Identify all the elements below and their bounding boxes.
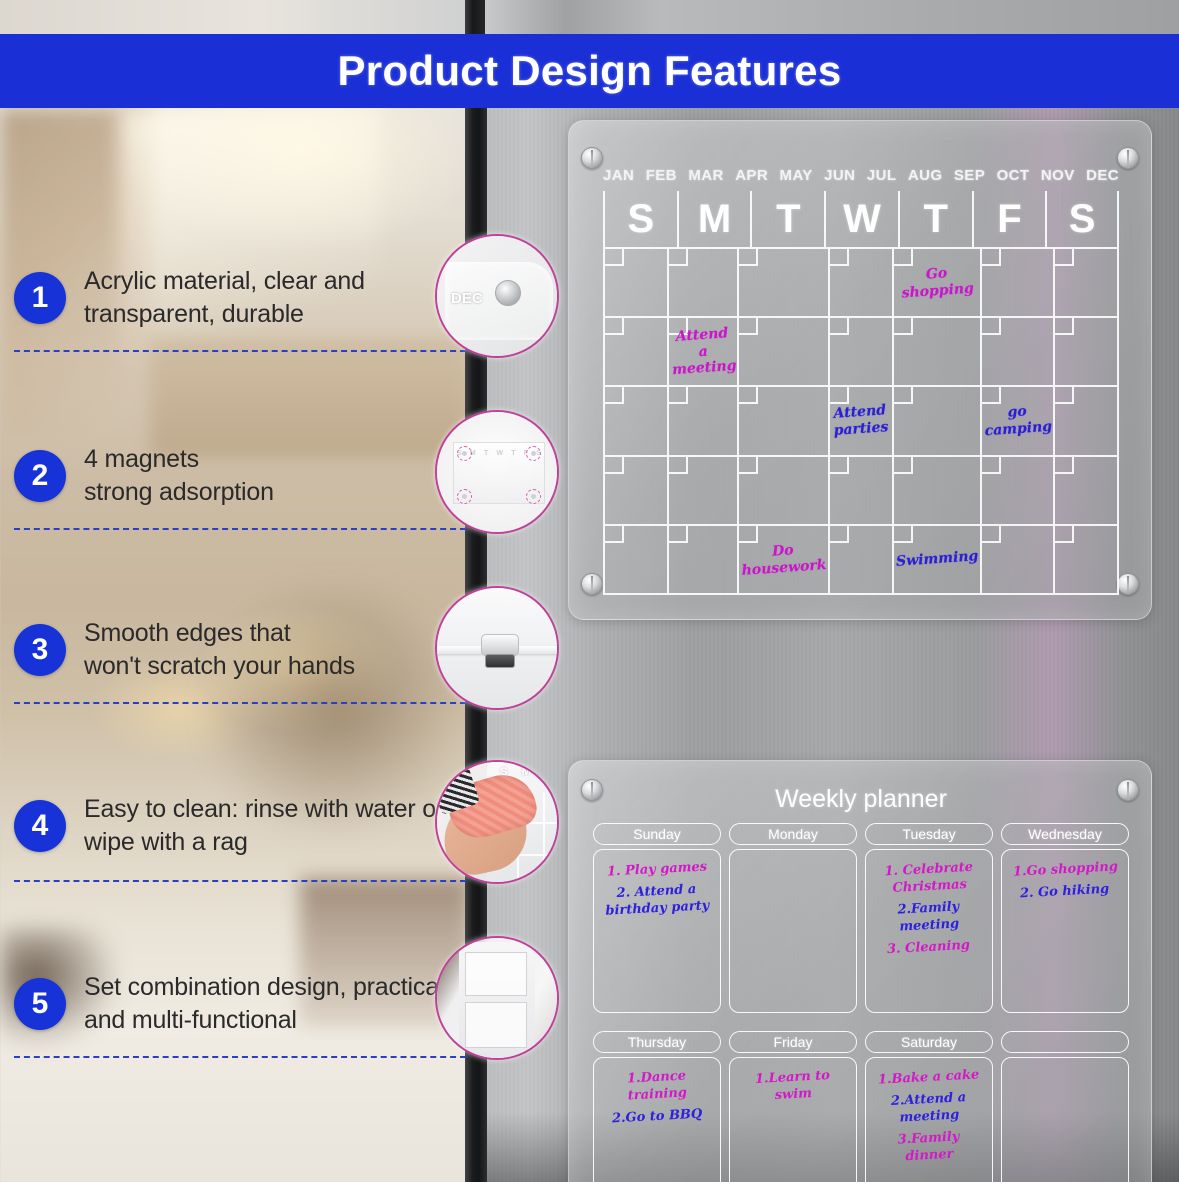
weekly-column: Thursday1.Dance training2.Go to BBQ <box>593 1031 721 1182</box>
weekly-note: 2. Go hiking <box>1020 882 1110 904</box>
calendar-cell[interactable]: Do housework <box>739 526 830 595</box>
weekday-mon: M <box>677 191 751 247</box>
magnet-icon <box>1117 573 1139 595</box>
page-title: Product Design Features <box>337 47 841 95</box>
weekly-column: Monday <box>729 823 857 1013</box>
feature-divider-3 <box>14 702 466 704</box>
calendar-cell[interactable] <box>830 318 894 387</box>
magnet-icon <box>1117 147 1139 169</box>
fridge-set-thumb <box>435 936 559 1060</box>
calendar-note: go camping <box>983 402 1053 440</box>
weekly-day-header: Monday <box>729 823 857 845</box>
feature-list: 1 Acrylic material, clear and transparen… <box>0 108 468 1182</box>
feature-badge-4: 4 <box>14 800 66 852</box>
calendar-note: Do housework <box>740 540 827 579</box>
weekly-day-body[interactable]: 1.Learn to swim <box>729 1057 857 1182</box>
weekday-fri: F <box>972 191 1046 247</box>
month-selector-row[interactable]: JAN FEB MAR APR MAY JUN JUL AUG SEP OCT … <box>603 167 1119 184</box>
weekly-day-header: Saturday <box>865 1031 993 1053</box>
month-dec[interactable]: DEC <box>1086 167 1119 184</box>
weekly-column: Wednesday1.Go shopping2. Go hiking <box>1001 823 1129 1013</box>
magnet-base <box>485 654 515 668</box>
feature-text-4: Easy to clean: rinse with water or wipe … <box>84 793 466 860</box>
calendar-cell[interactable] <box>894 457 982 526</box>
weekly-note: 1.Dance training <box>599 1067 715 1107</box>
board-corner-dec-thumb: DEC <box>435 234 559 358</box>
magnet-icon <box>481 634 519 656</box>
weekly-column: Friday1.Learn to swim <box>729 1031 857 1182</box>
magnet-icon <box>581 147 603 169</box>
thumb-dec-label: DEC <box>451 290 483 307</box>
calendar-cell[interactable] <box>739 318 830 387</box>
magnet-icon <box>581 573 603 595</box>
feature-item-1: 1 Acrylic material, clear and transparen… <box>14 248 466 348</box>
magnet-ring-icon <box>526 489 541 504</box>
four-magnets-thumb: S M T W T F S <box>435 410 559 534</box>
calendar-cell[interactable] <box>739 457 830 526</box>
calendar-cell[interactable] <box>605 387 669 456</box>
feature-badge-3: 3 <box>14 624 66 676</box>
calendar-cell[interactable] <box>669 526 739 595</box>
calendar-cell[interactable]: Go shopping <box>894 249 982 318</box>
feature-divider-1 <box>14 350 466 352</box>
calendar-cell[interactable] <box>830 457 894 526</box>
month-jul[interactable]: JUL <box>867 167 897 184</box>
calendar-cell[interactable] <box>982 318 1055 387</box>
feature-divider-4 <box>14 880 466 882</box>
mini-weekly-board <box>465 1002 527 1048</box>
weekday-tue: T <box>750 191 824 247</box>
weekly-note: 1.Go shopping <box>1012 859 1118 881</box>
feature-text-3: Smooth edges that won't scratch your han… <box>84 617 355 684</box>
weekly-note: 1. Play games <box>607 859 708 881</box>
month-oct[interactable]: OCT <box>997 167 1030 184</box>
weekly-note: 2.Family meeting <box>897 899 960 936</box>
month-aug[interactable]: AUG <box>908 167 943 184</box>
weekly-day-body[interactable] <box>729 849 857 1013</box>
feature-badge-5: 5 <box>14 978 66 1030</box>
calendar-cell[interactable] <box>605 526 669 595</box>
month-feb[interactable]: FEB <box>646 167 677 184</box>
weekly-note: 2.Go to BBQ <box>611 1106 702 1128</box>
weekly-day-header: Friday <box>729 1031 857 1053</box>
weekly-planner-title: Weekly planner <box>569 785 1153 814</box>
magnet-ring-icon <box>457 446 472 461</box>
weekday-header-row: S M T W T F S <box>603 191 1119 247</box>
feature-item-3: 3 Smooth edges that won't scratch your h… <box>14 600 466 700</box>
feature-divider-5 <box>14 1056 466 1058</box>
calendar-cell[interactable] <box>669 249 739 318</box>
calendar-cell[interactable] <box>982 249 1055 318</box>
monthly-calendar-board[interactable]: JAN FEB MAR APR MAY JUN JUL AUG SEP OCT … <box>568 120 1152 620</box>
weekday-wed: W <box>824 191 898 247</box>
magnet-ring-icon <box>457 489 472 504</box>
feature-text-2: 4 magnets strong adsorption <box>84 443 274 510</box>
calendar-cell[interactable] <box>1055 387 1119 456</box>
weekly-note: 2. Attend a birthday party <box>604 881 709 920</box>
calendar-cell[interactable] <box>739 387 830 456</box>
calendar-cell[interactable] <box>669 387 739 456</box>
calendar-cell[interactable] <box>982 457 1055 526</box>
weekly-column <box>1001 1031 1129 1182</box>
photo-top-strip <box>0 0 1179 34</box>
feature-badge-1: 1 <box>14 272 66 324</box>
monthly-cells: Go shoppingAttend a meetingAttend partie… <box>603 247 1119 595</box>
weekday-thu: T <box>898 191 972 247</box>
calendar-note: Go shopping <box>900 264 974 302</box>
hand-wiping-cloth-thumb: S M T <box>435 760 559 884</box>
header-banner: Product Design Features <box>0 34 1179 108</box>
weekly-note: 1. Celebrate Christmas <box>884 860 974 898</box>
month-nov[interactable]: NOV <box>1041 167 1075 184</box>
feature-text-5: Set combination design, practical and mu… <box>84 971 466 1038</box>
calendar-cell[interactable]: go camping <box>982 387 1055 456</box>
month-may[interactable]: MAY <box>780 167 813 184</box>
calendar-cell[interactable]: Attend parties <box>830 387 894 456</box>
weekly-note: 1.Learn to swim <box>735 1067 851 1107</box>
weekday-sat: S <box>1045 191 1119 247</box>
calendar-cell[interactable] <box>1055 318 1119 387</box>
feature-badge-2: 2 <box>14 450 66 502</box>
weekly-note: 3. Cleaning <box>887 937 971 958</box>
calendar-note: Attend a meeting <box>669 325 737 379</box>
feature-item-5: 5 Set combination design, practical and … <box>14 954 466 1054</box>
weekly-day-header <box>1001 1031 1129 1053</box>
weekday-sun: S <box>603 191 677 247</box>
weekly-grid: Sunday1. Play games2. Attend a birthday … <box>593 823 1129 1182</box>
weekly-row-bottom: Thursday1.Dance training2.Go to BBQFrida… <box>593 1031 1129 1182</box>
calendar-cell[interactable] <box>1055 249 1119 318</box>
calendar-cell[interactable] <box>894 387 982 456</box>
calendar-cell[interactable] <box>830 526 894 595</box>
month-jan[interactable]: JAN <box>603 167 634 184</box>
calendar-cell[interactable] <box>605 249 669 318</box>
weekly-day-body[interactable]: 1.Dance training2.Go to BBQ <box>593 1057 721 1182</box>
weekly-day-header: Sunday <box>593 823 721 845</box>
calendar-cell[interactable] <box>669 457 739 526</box>
weekly-note: 3.Family dinner <box>871 1128 987 1168</box>
calendar-cell[interactable] <box>605 457 669 526</box>
weekly-day-header: Wednesday <box>1001 823 1129 845</box>
weekly-day-body[interactable]: 1. Celebrate Christmas2.Family meeting3.… <box>865 849 993 1013</box>
feature-divider-2 <box>14 528 466 530</box>
weekly-note: 2.Attend a meeting <box>871 1089 987 1129</box>
weekly-column: Tuesday1. Celebrate Christmas2.Family me… <box>865 823 993 1013</box>
mini-monthly-board <box>465 952 527 996</box>
calendar-cell[interactable]: Attend a meeting <box>669 318 739 387</box>
calendar-cell[interactable] <box>1055 526 1119 595</box>
month-mar[interactable]: MAR <box>688 167 723 184</box>
smooth-edge-thumb <box>435 586 559 710</box>
magnet-icon <box>495 280 521 306</box>
feature-item-4: 4 Easy to clean: rinse with water or wip… <box>14 776 466 876</box>
calendar-cell[interactable] <box>982 526 1055 595</box>
calendar-cell[interactable] <box>1055 457 1119 526</box>
weekly-column: Sunday1. Play games2. Attend a birthday … <box>593 823 721 1013</box>
month-jun[interactable]: JUN <box>824 167 855 184</box>
calendar-cell[interactable] <box>739 249 830 318</box>
product-scene: 1 Acrylic material, clear and transparen… <box>0 108 1179 1182</box>
calendar-cell[interactable] <box>830 249 894 318</box>
calendar-note: Attend parties <box>832 403 889 440</box>
weekly-planner-board[interactable]: Weekly planner Sunday1. Play games2. Att… <box>568 760 1152 1182</box>
month-apr[interactable]: APR <box>735 167 768 184</box>
feature-item-2: 2 4 magnets strong adsorption <box>14 426 466 526</box>
weekly-day-body[interactable] <box>1001 1057 1129 1182</box>
weekly-day-body[interactable]: 1. Play games2. Attend a birthday party <box>593 849 721 1013</box>
weekly-day-header: Thursday <box>593 1031 721 1053</box>
weekly-column: Saturday1.Bake a cake2.Attend a meeting3… <box>865 1031 993 1182</box>
weekly-note: 1.Bake a cake <box>878 1067 980 1089</box>
weekly-day-header: Tuesday <box>865 823 993 845</box>
weekly-row-top: Sunday1. Play games2. Attend a birthday … <box>593 823 1129 1013</box>
calendar-cell[interactable] <box>894 318 982 387</box>
feature-text-1: Acrylic material, clear and transparent,… <box>84 265 466 332</box>
weekly-day-body[interactable]: 1.Bake a cake2.Attend a meeting3.Family … <box>865 1057 993 1182</box>
weekly-day-body[interactable]: 1.Go shopping2. Go hiking <box>1001 849 1129 1013</box>
calendar-cell[interactable]: Swimming <box>894 526 982 595</box>
month-sep[interactable]: SEP <box>954 167 985 184</box>
calendar-note: Swimming <box>895 548 978 570</box>
calendar-cell[interactable] <box>605 318 669 387</box>
monthly-grid: S M T W T F S Go shoppingAttend a meetin… <box>603 191 1119 595</box>
magnet-ring-icon <box>526 446 541 461</box>
